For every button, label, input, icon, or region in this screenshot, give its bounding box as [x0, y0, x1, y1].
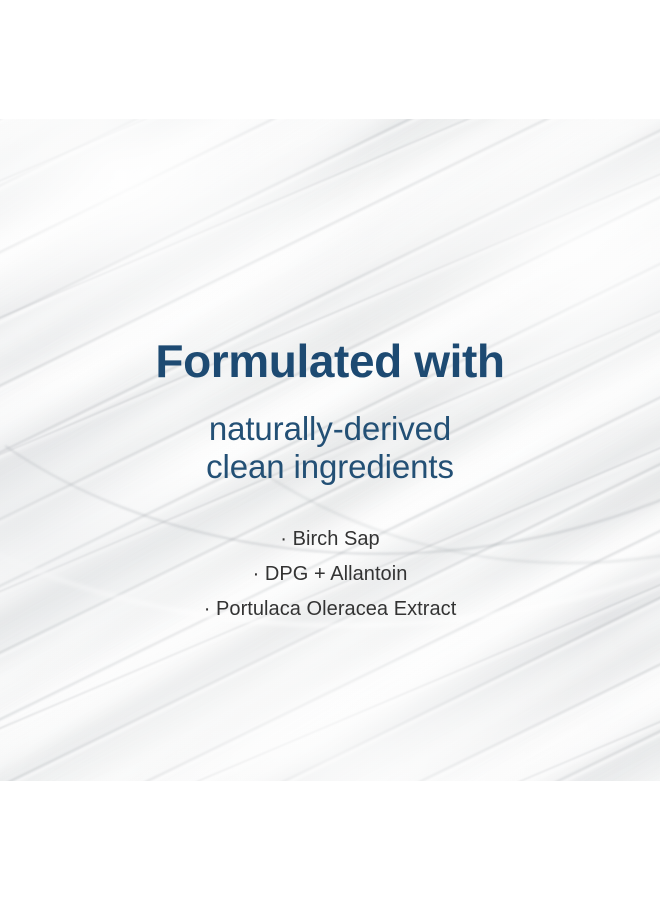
list-item: · Portulaca Oleracea Extract	[0, 592, 660, 627]
product-ingredient-banner: Formulated with naturally-derived clean …	[0, 0, 660, 900]
list-item: · Birch Sap	[0, 522, 660, 557]
ingredient-list: · Birch Sap · DPG + Allantoin · Portulac…	[0, 522, 660, 627]
headline: Formulated with	[0, 338, 660, 384]
subheading: naturally-derived clean ingredients	[0, 410, 660, 486]
subheading-line-1: naturally-derived	[0, 410, 660, 448]
subheading-line-2: clean ingredients	[0, 448, 660, 486]
list-item: · DPG + Allantoin	[0, 557, 660, 592]
